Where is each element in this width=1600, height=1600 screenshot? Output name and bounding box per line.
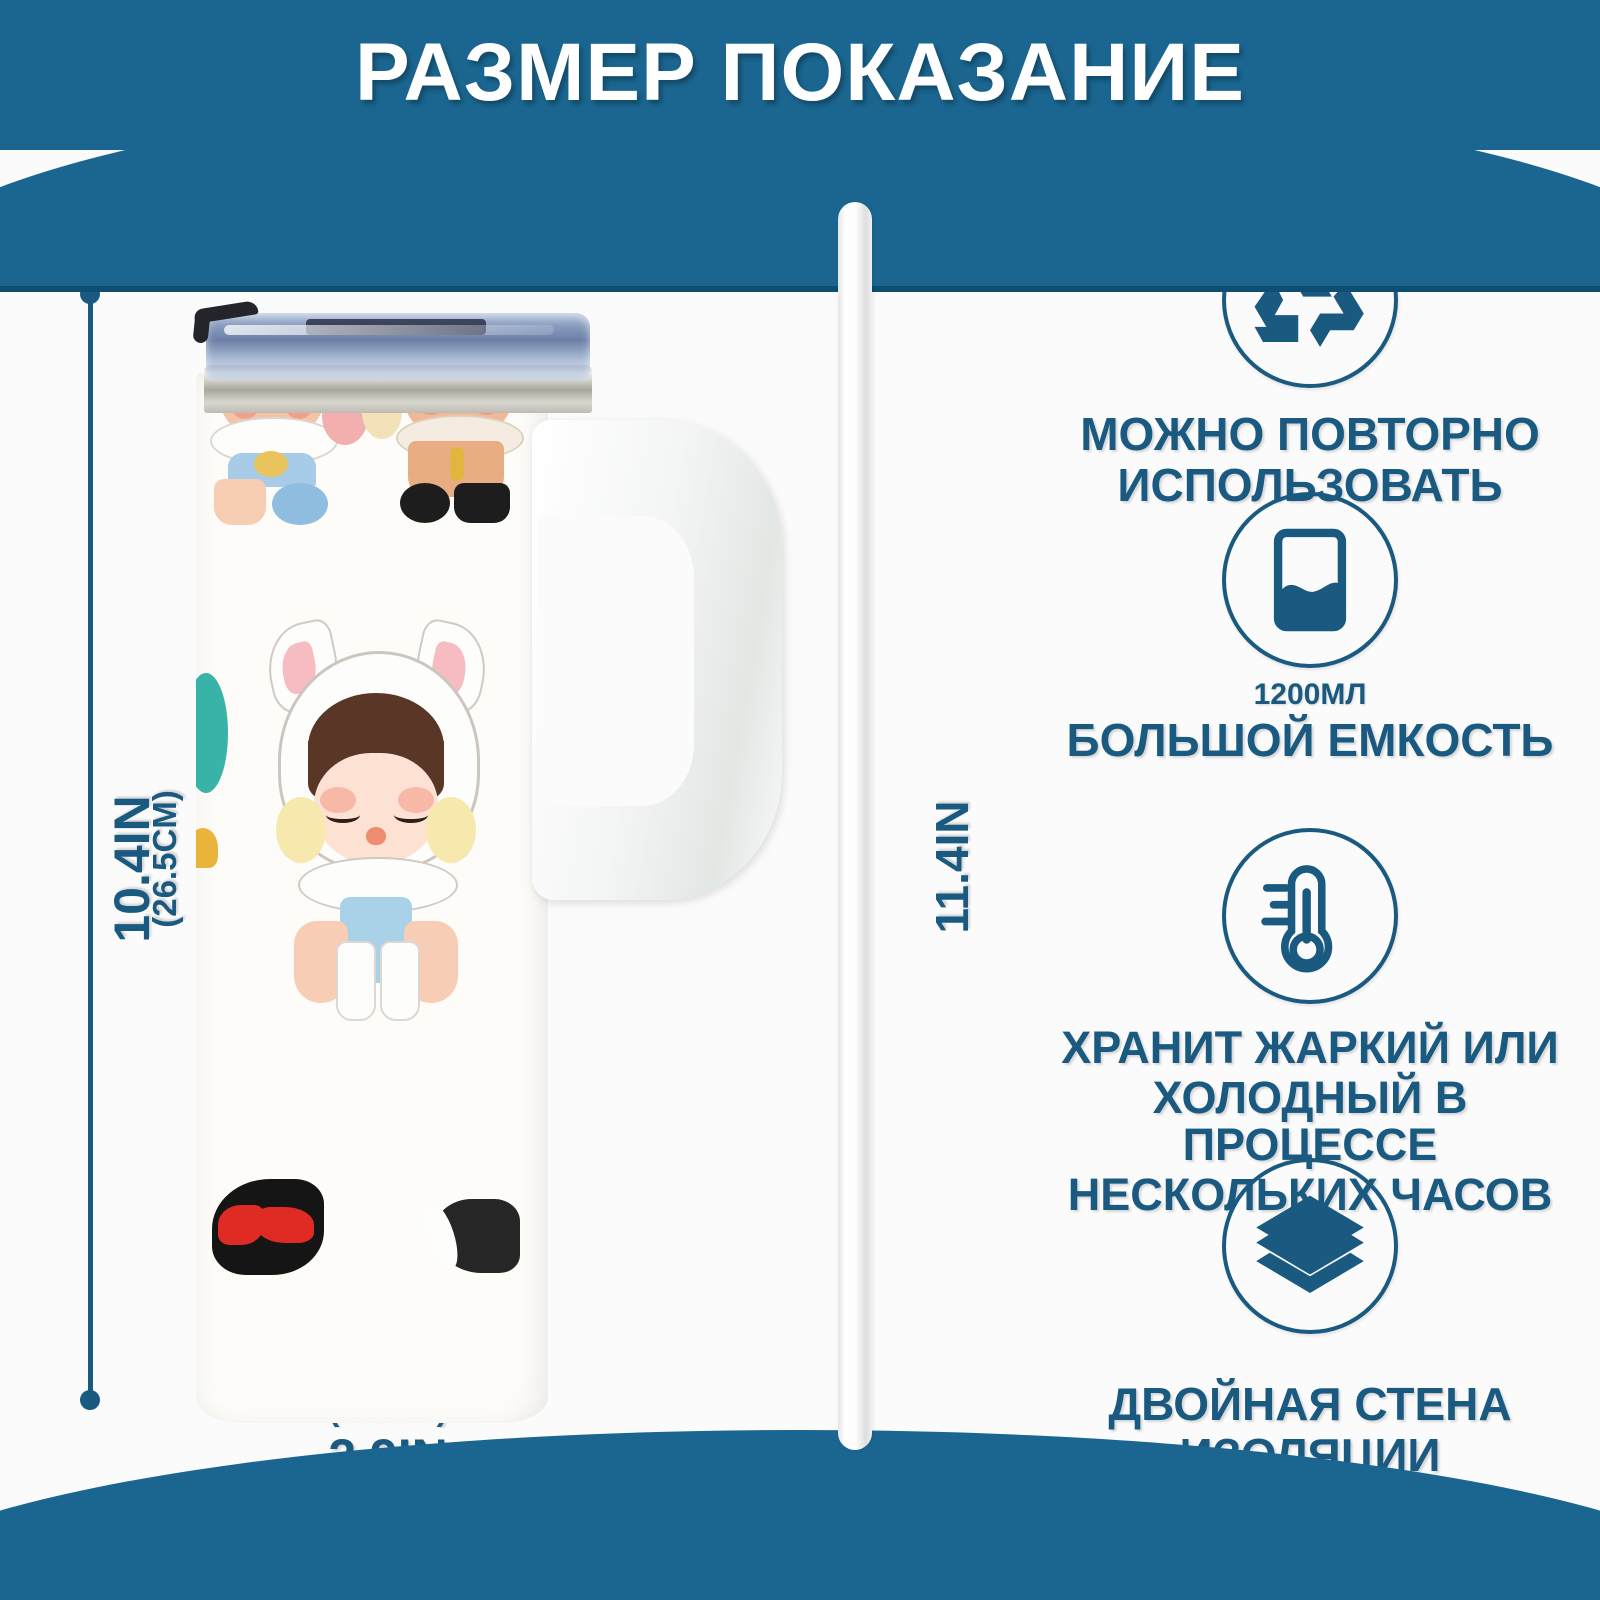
height-dot-bottom bbox=[80, 1390, 100, 1410]
tumbler-product-image bbox=[196, 285, 576, 1400]
handle-opening bbox=[538, 516, 694, 806]
print-bow-bottom-left bbox=[212, 1179, 324, 1275]
print-shape-bottom-right bbox=[434, 1199, 520, 1273]
layers-icon bbox=[1222, 1158, 1398, 1334]
straw-product-image bbox=[838, 202, 872, 1450]
water-glass-icon bbox=[1222, 492, 1398, 668]
height-cm: (26.5CM) bbox=[146, 739, 184, 979]
feature-temperature-line1: ХРАНИТ ЖАРКИЙ ИЛИ bbox=[1020, 1024, 1600, 1072]
feature-capacity-line1: БОЛЬШОЙ ЕМКОСТЬ bbox=[1020, 716, 1600, 765]
lid-flip-tab bbox=[194, 305, 262, 347]
cup-body bbox=[196, 373, 548, 1423]
thermometer-icon bbox=[1222, 828, 1398, 1004]
feature-double-wall-line1: ДВОЙНАЯ СТЕНА bbox=[1020, 1380, 1600, 1429]
infographic-canvas: РАЗМЕР ПОКАЗАНИЕ (9.6CM) 3.7IN 10.4IN (2… bbox=[0, 0, 1600, 1600]
feature-reusable-line1: МОЖНО ПОВТОРНО bbox=[1020, 410, 1600, 459]
page-title: РАЗМЕР ПОКАЗАНИЕ bbox=[0, 26, 1600, 120]
feature-temperature-line2: ХОЛОДНЫЙ В ПРОЦЕССЕ bbox=[1020, 1074, 1600, 1169]
straw-length-inch: 11.4IN bbox=[925, 747, 979, 987]
feature-capacity: 1200МЛ БОЛЬШОЙ ЕМКОСТЬ bbox=[1020, 492, 1600, 765]
capacity-volume: 1200МЛ bbox=[1020, 678, 1600, 712]
print-gold-sliver bbox=[196, 828, 218, 868]
feature-double-wall: ДВОЙНАЯ СТЕНА ИЗОЛЯЦИИ bbox=[1020, 1158, 1600, 1480]
print-doll-main bbox=[254, 621, 498, 1051]
print-teal-sliver bbox=[196, 673, 228, 793]
height-line bbox=[88, 292, 93, 1400]
cup-handle bbox=[532, 420, 782, 900]
lid-highlight bbox=[224, 325, 554, 335]
